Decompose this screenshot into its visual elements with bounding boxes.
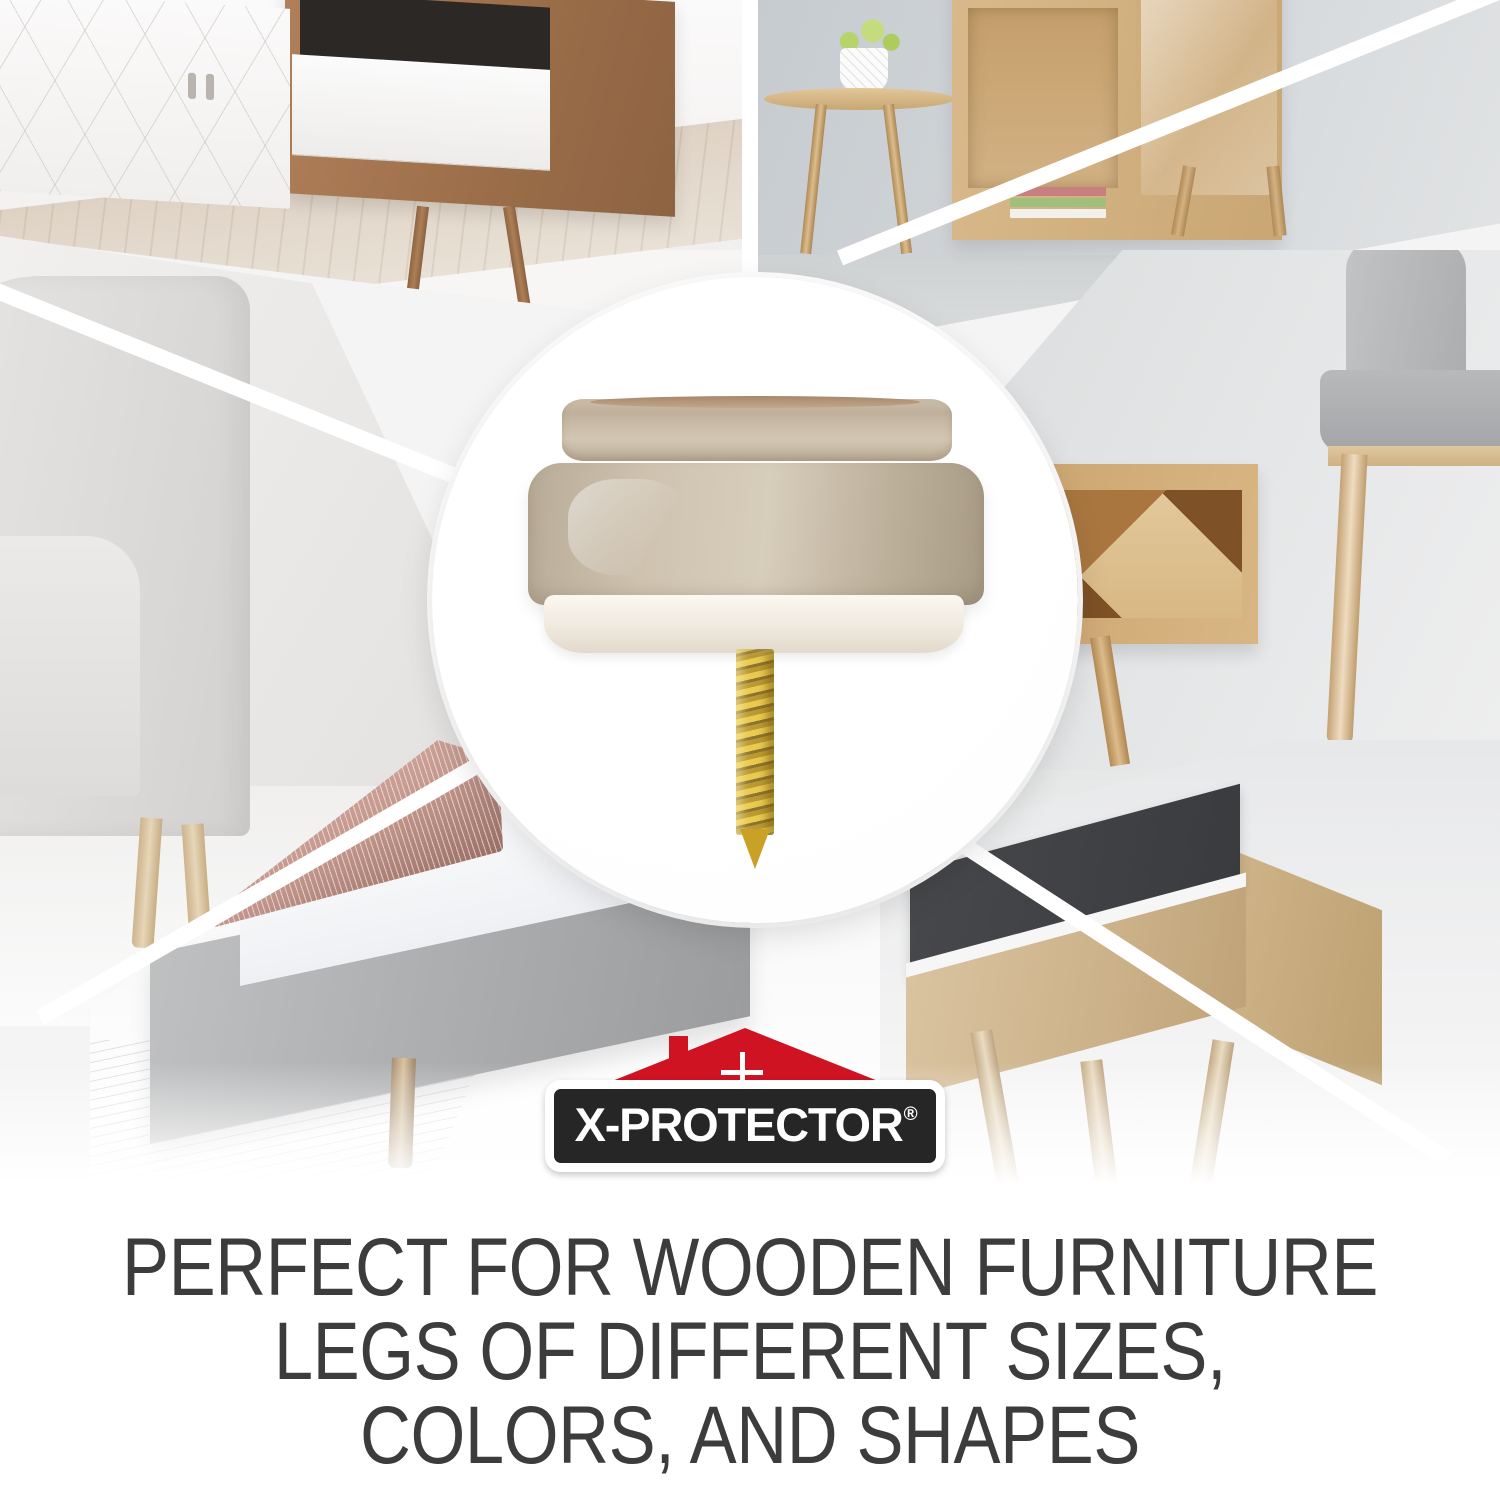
brand-name-plate: X-PROTECTOR®	[545, 1080, 945, 1172]
headline-line-3: COLORS, AND SHAPES	[105, 1394, 1395, 1478]
registered-trademark-icon: ®	[904, 1104, 917, 1125]
headline-line-1: PERFECT FOR WOODEN FURNITURE	[105, 1226, 1395, 1310]
brand-name: X-PROTECTOR®	[575, 1101, 916, 1148]
door-handle-right	[206, 74, 214, 100]
white-planter	[840, 48, 888, 92]
product-hero-circle	[432, 277, 1078, 923]
dining-chair-back	[1346, 250, 1466, 390]
screw-tip	[740, 829, 770, 869]
book	[1010, 209, 1106, 218]
glide-felt-pad	[544, 595, 964, 653]
oak-display-cabinet	[952, 0, 1282, 240]
cabinet-open-shelf	[968, 8, 1118, 188]
window-pane	[721, 1052, 740, 1070]
armchair-armrest	[0, 536, 140, 796]
headline-text: PERFECT FOR WOODEN FURNITURE LEGS OF DIF…	[105, 1226, 1395, 1478]
cabinet-glass-door	[1136, 0, 1277, 195]
sideboard-white-drawer	[292, 54, 550, 171]
chimney-icon	[669, 1036, 688, 1074]
book	[1010, 187, 1106, 196]
round-side-table-top	[764, 88, 954, 110]
product-marketing-image: X-PROTECTOR® PERFECT FOR WOODEN FURNITUR…	[0, 0, 1500, 1488]
book-stack	[1010, 185, 1106, 218]
bed-leg	[388, 1058, 416, 1169]
glide-cap	[562, 399, 952, 461]
window-pane	[745, 1052, 764, 1070]
book	[1010, 198, 1106, 207]
furniture-glide-product	[432, 277, 1078, 923]
glide-base	[528, 463, 984, 605]
headline-line-2: LEGS OF DIFFERENT SIZES,	[105, 1310, 1395, 1394]
dining-chair-seat	[1320, 370, 1500, 452]
brand-logo: X-PROTECTOR®	[545, 1028, 945, 1186]
glide-screw	[722, 649, 788, 869]
nightstand-marquetry-inlay	[1052, 490, 1242, 618]
screw-shank	[736, 649, 774, 835]
sideboard-diamond-doors	[0, 0, 290, 209]
door-handle-left	[188, 73, 196, 99]
